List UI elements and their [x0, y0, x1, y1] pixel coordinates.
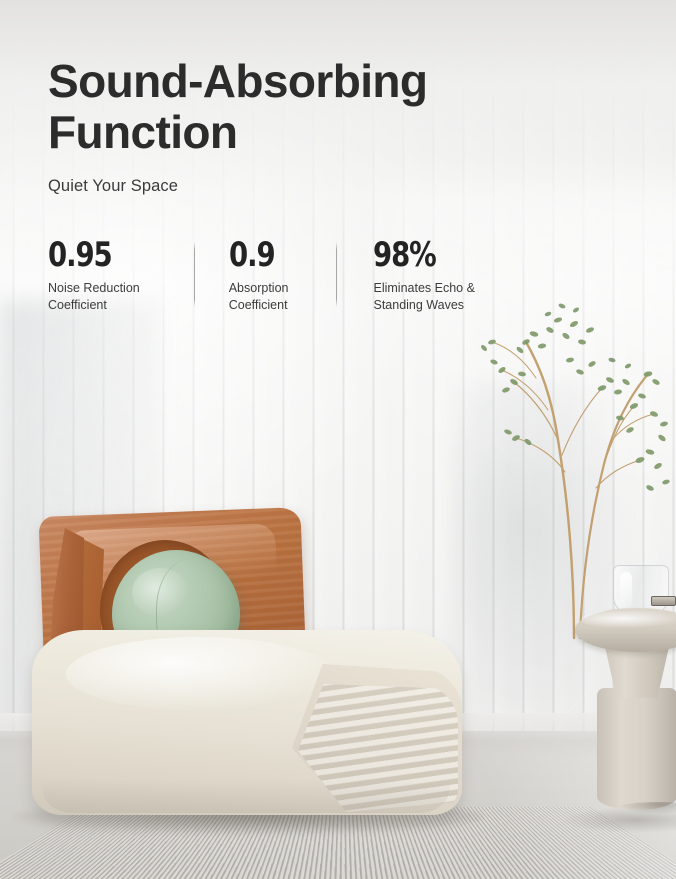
stat-divider	[336, 242, 337, 307]
marketing-copy: Sound-Absorbing Function Quiet Your Spac…	[0, 0, 676, 879]
stat-label: Noise Reduction Coefficient	[48, 280, 140, 313]
stat-eliminates-echo: 98% Eliminates Echo & Standing Waves	[373, 238, 474, 313]
stat-divider	[194, 242, 195, 307]
stat-noise-reduction-coefficient: 0.95 Noise Reduction Coefficient	[48, 238, 140, 313]
stat-value: 0.95	[48, 238, 131, 272]
subtitle: Quiet Your Space	[48, 177, 178, 196]
stat-value: 98%	[373, 238, 464, 272]
stat-label: Eliminates Echo & Standing Waves	[373, 280, 474, 313]
stat-label: Absorption Coefficient	[229, 280, 289, 313]
stat-value: 0.9	[229, 238, 283, 272]
page-title: Sound-Absorbing Function	[48, 56, 468, 157]
stat-absorption-coefficient: 0.9 Absorption Coefficient	[229, 238, 289, 313]
stats-row: 0.95 Noise Reduction Coefficient 0.9 Abs…	[48, 238, 475, 313]
